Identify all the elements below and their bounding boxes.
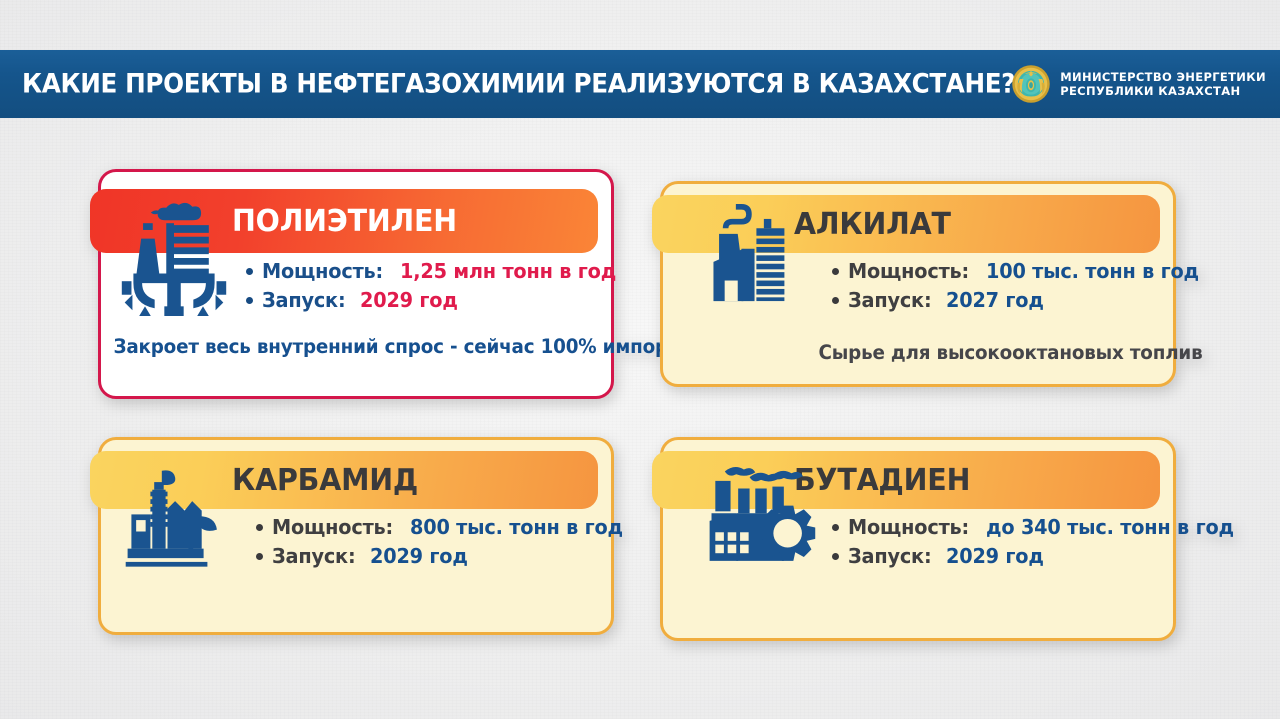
bullet-dot-icon [832, 524, 839, 531]
bullet-value: 2029 год [370, 544, 468, 568]
bullet-value: 100 тыс. тонн в год [986, 259, 1199, 283]
kazakhstan-emblem-icon [1011, 64, 1051, 104]
bullet-value: 2027 год [946, 288, 1044, 312]
bullet-dot-icon [832, 268, 839, 275]
bullet-dot-icon [246, 297, 253, 304]
bullet-label: Запуск: [262, 288, 345, 312]
list-item: Мощность: 800 тыс. тонн в год [256, 515, 598, 539]
bullet-dot-icon [832, 297, 839, 304]
card-bullet-list: Мощность: 1,25 млн тонн в год Запуск: 20… [246, 259, 598, 312]
card-footnote: Сырье для высокооктановых топлив [819, 341, 1148, 364]
card-bullet-list: Мощность: 800 тыс. тонн в год Запуск: 20… [256, 515, 598, 568]
header-bar: КАКИЕ ПРОЕКТЫ В НЕФТЕГАЗОХИМИИ РЕАЛИЗУЮТ… [0, 50, 1280, 118]
card-body: Мощность: 1,25 млн тонн в год Запуск: 20… [98, 259, 614, 317]
list-item: Запуск: 2027 год [832, 288, 1160, 312]
ministry-name: МИНИСТЕРСТВО ЭНЕРГЕТИКИ РЕСПУБЛИКИ КАЗАХ… [1060, 70, 1266, 99]
card-body: Мощность: 800 тыс. тонн в год Запуск: 20… [98, 515, 614, 573]
bullet-dot-icon [256, 524, 263, 531]
list-item: Запуск: 2029 год [832, 544, 1160, 568]
bullet-label: Мощность: [262, 259, 383, 283]
bullet-label: Запуск: [272, 544, 355, 568]
bullet-label: Запуск: [848, 288, 931, 312]
list-item: Мощность: до 340 тыс. тонн в год [832, 515, 1160, 539]
bullet-dot-icon [256, 553, 263, 560]
ministry-line-2: РЕСПУБЛИКИ КАЗАХСТАН [1060, 84, 1266, 98]
ministry-logo: МИНИСТЕРСТВО ЭНЕРГЕТИКИ РЕСПУБЛИКИ КАЗАХ… [1011, 64, 1266, 104]
card-bullet-list: Мощность: до 340 тыс. тонн в год Запуск:… [832, 515, 1160, 568]
card-body: Мощность: до 340 тыс. тонн в год Запуск:… [660, 515, 1176, 573]
list-item: Мощность: 1,25 млн тонн в год [246, 259, 598, 283]
bullet-value: 2029 год [946, 544, 1044, 568]
bullet-dot-icon [832, 553, 839, 560]
card-title: ПОЛИЭТИЛЕН [232, 204, 457, 239]
card-body: Мощность: 100 тыс. тонн в год Запуск: 20… [660, 259, 1176, 317]
bullet-label: Запуск: [848, 544, 931, 568]
bullet-value: 2029 год [360, 288, 458, 312]
page-title: КАКИЕ ПРОЕКТЫ В НЕФТЕГАЗОХИМИИ РЕАЛИЗУЮТ… [22, 69, 1015, 100]
list-item: Запуск: 2029 год [256, 544, 598, 568]
project-card-carbamide[interactable]: КАРБАМИД [98, 437, 614, 635]
project-card-alkylate[interactable]: АЛКИЛАТ [660, 181, 1176, 387]
project-card-polyethylene[interactable]: ПОЛИЭТИЛЕН [98, 169, 614, 399]
list-item: Запуск: 2029 год [246, 288, 598, 312]
bullet-value: 1,25 млн тонн в год [400, 259, 616, 283]
bullet-label: Мощность: [848, 515, 969, 539]
infographic-page: КАКИЕ ПРОЕКТЫ В НЕФТЕГАЗОХИМИИ РЕАЛИЗУЮТ… [0, 0, 1280, 719]
card-footnote: Закроет весь внутренний спрос - сейчас 1… [113, 335, 598, 358]
card-title: БУТАДИЕН [794, 463, 970, 498]
card-title: КАРБАМИД [232, 463, 418, 498]
project-card-butadiene[interactable]: БУТАДИЕН [660, 437, 1176, 641]
card-bullet-list: Мощность: 100 тыс. тонн в год Запуск: 20… [832, 259, 1160, 312]
ministry-line-1: МИНИСТЕРСТВО ЭНЕРГЕТИКИ [1060, 70, 1266, 84]
bullet-value: 800 тыс. тонн в год [410, 515, 623, 539]
bullet-dot-icon [246, 268, 253, 275]
bullet-value: до 340 тыс. тонн в год [986, 515, 1234, 539]
list-item: Мощность: 100 тыс. тонн в год [832, 259, 1160, 283]
bullet-label: Мощность: [848, 259, 969, 283]
bullet-label: Мощность: [272, 515, 393, 539]
